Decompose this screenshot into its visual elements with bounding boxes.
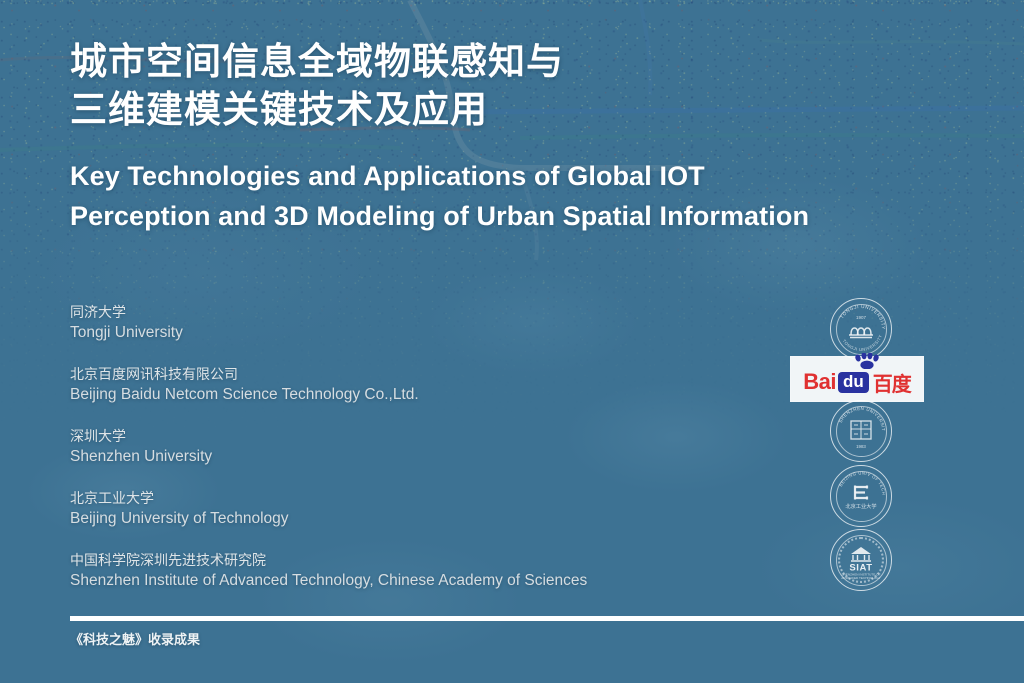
organization-name-en: Beijing University of Technology [70, 508, 587, 529]
title-cn-line-1: 城市空间信息全域物联感知与 [70, 38, 564, 86]
tongji-university-seal-icon: TONGJI UNIVERSITY TONGJI UNIVERSITY 1907 [830, 298, 892, 360]
poster-title-en: Key Technologies and Applications of Glo… [70, 156, 809, 236]
organization-name-cn: 深圳大学 [70, 426, 587, 446]
svg-text:TONGJI UNIVERSITY: TONGJI UNIVERSITY [842, 334, 884, 352]
baidu-chinese-text: 百度 [873, 368, 911, 397]
title-en-line-1: Key Technologies and Applications of Glo… [70, 156, 809, 196]
baidu-paw-icon [853, 353, 881, 369]
svg-text:1983: 1983 [856, 444, 866, 449]
shenzhen-university-logo: SHENZHEN UNIVERSITY 1983 [830, 400, 892, 462]
organization-name-en: Shenzhen Institute of Advanced Technolog… [70, 570, 587, 591]
shenzhen-university-seal-icon: SHENZHEN UNIVERSITY 1983 [830, 400, 892, 462]
siat-cas-logo: SIAT SHENZHEN INSTITUTE OF ADVANCED TECH… [830, 529, 892, 591]
organization-item: 北京百度网讯科技有限公司 Beijing Baidu Netcom Scienc… [70, 364, 587, 405]
beijing-university-of-technology-seal-icon: BEIJING UNIV OF TECHNOLOGY 北京工业大学 [830, 465, 892, 527]
title-en-line-2: Perception and 3D Modeling of Urban Spat… [70, 196, 809, 236]
svg-text:北京工业大学: 北京工业大学 [845, 502, 876, 510]
footer-divider [70, 616, 1024, 621]
beijing-university-of-technology-logo: BEIJING UNIV OF TECHNOLOGY 北京工业大学 [830, 465, 892, 527]
baidu-bai-text: Bai [803, 369, 836, 395]
organization-name-cn: 同济大学 [70, 302, 587, 322]
tongji-university-logo: TONGJI UNIVERSITY TONGJI UNIVERSITY 1907 [830, 298, 892, 360]
organization-name-cn: 北京百度网讯科技有限公司 [70, 364, 587, 384]
svg-text:1907: 1907 [856, 315, 867, 320]
svg-text:BEIJING UNIV OF TECHNOLOGY: BEIJING UNIV OF TECHNOLOGY [831, 466, 887, 496]
svg-text:ADVANCED TECHNOLOGY: ADVANCED TECHNOLOGY [841, 576, 880, 580]
logo-column: TONGJI UNIVERSITY TONGJI UNIVERSITY 1907 [826, 298, 896, 591]
baidu-logo: Bai du 百度 [790, 356, 924, 402]
footnote-text: 《科技之魅》收录成果 [70, 630, 200, 650]
baidu-du-badge: du [838, 372, 869, 393]
organization-list: 同济大学 Tongji University 北京百度网讯科技有限公司 Beij… [70, 302, 587, 591]
organization-item: 中国科学院深圳先进技术研究院 Shenzhen Institute of Adv… [70, 550, 587, 591]
poster-title-cn: 城市空间信息全域物联感知与 三维建模关键技术及应用 [70, 38, 564, 134]
siat-cas-seal-icon: SIAT SHENZHEN INSTITUTE OF ADVANCED TECH… [830, 529, 892, 591]
organization-name-en: Tongji University [70, 322, 587, 343]
organization-item: 深圳大学 Shenzhen University [70, 426, 587, 467]
organization-name-cn: 北京工业大学 [70, 488, 587, 508]
poster-canvas: 城市空间信息全域物联感知与 三维建模关键技术及应用 Key Technologi… [0, 0, 1024, 683]
svg-text:SHENZHEN UNIVERSITY: SHENZHEN UNIVERSITY [831, 401, 886, 431]
organization-name-en: Shenzhen University [70, 446, 587, 467]
organization-name-cn: 中国科学院深圳先进技术研究院 [70, 550, 587, 570]
organization-item: 同济大学 Tongji University [70, 302, 587, 343]
title-cn-line-2: 三维建模关键技术及应用 [70, 86, 564, 134]
organization-name-en: Beijing Baidu Netcom Science Technology … [70, 384, 587, 405]
organization-item: 北京工业大学 Beijing University of Technology [70, 488, 587, 529]
